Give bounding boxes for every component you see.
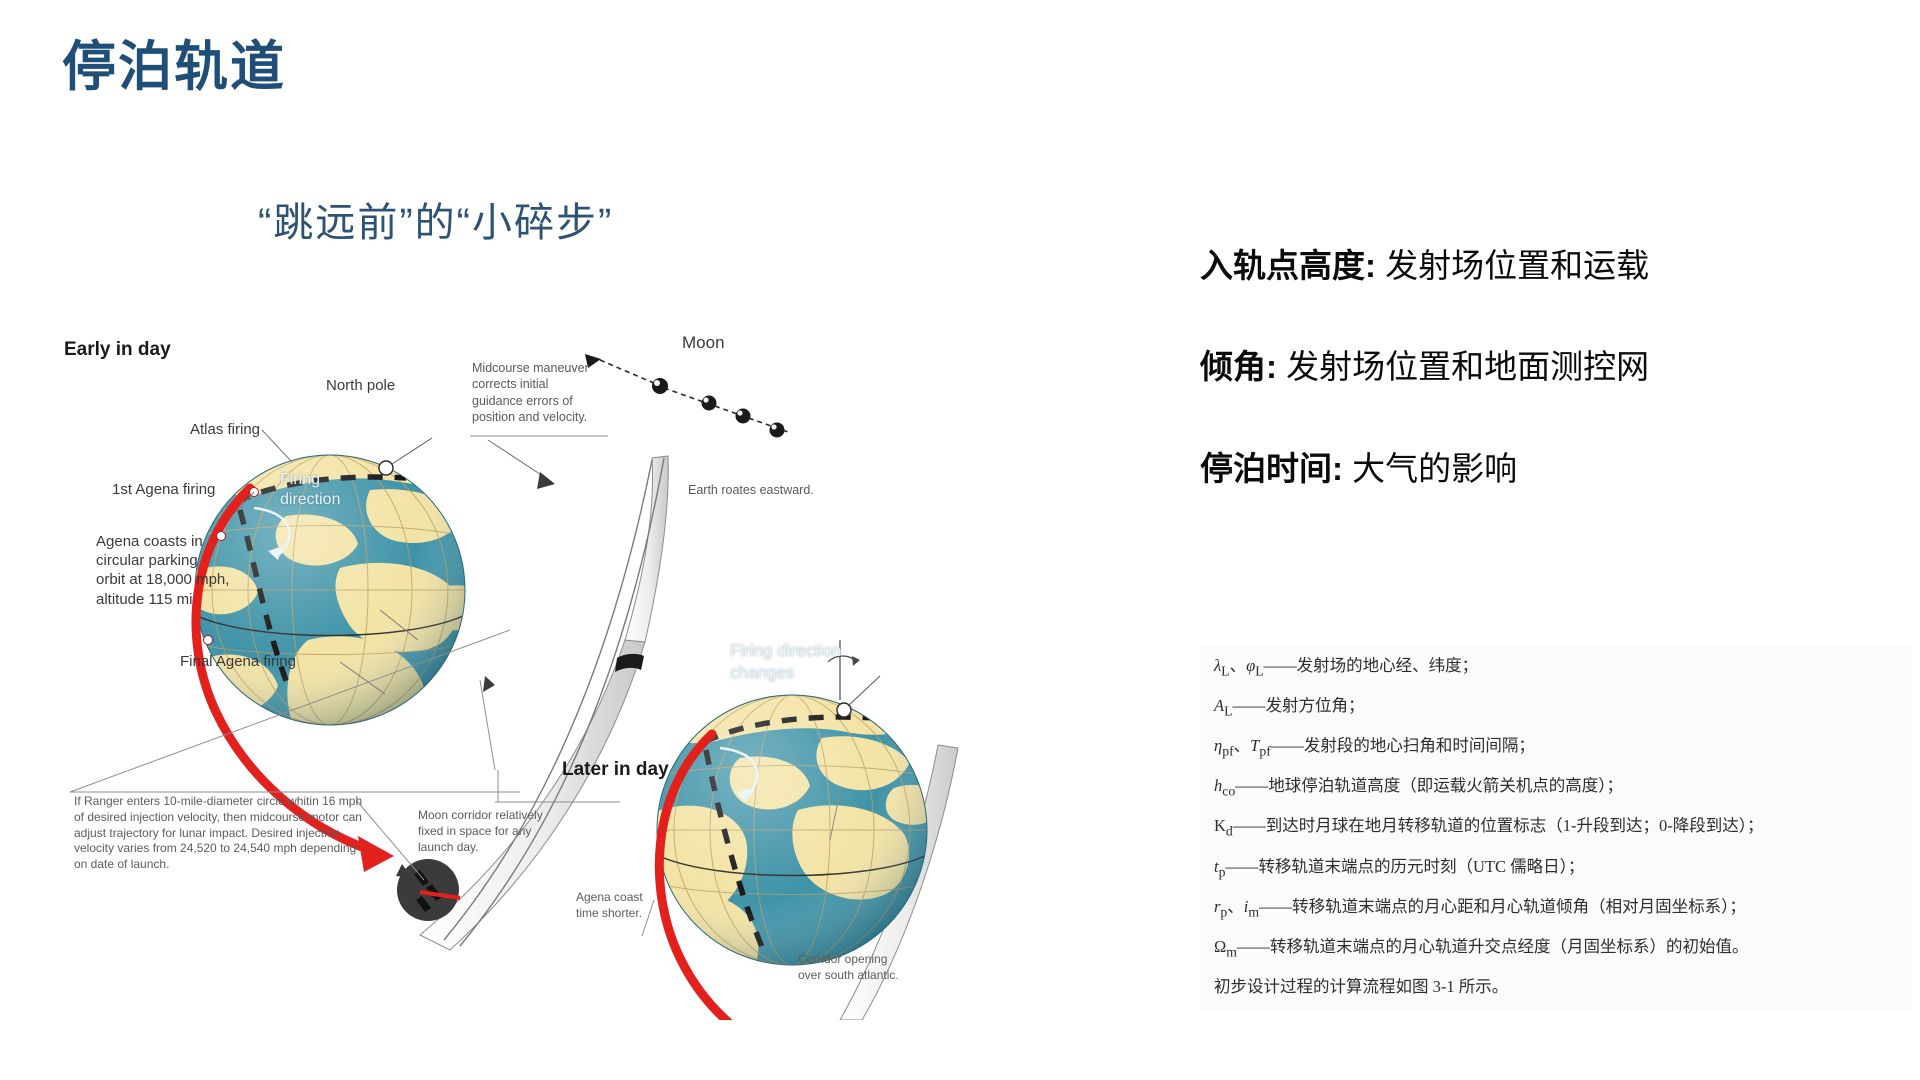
moon-icon — [652, 378, 668, 394]
nomenclature-text-6: ——转移轨道末端点的月心距和月心轨道倾角（相对月固坐标系）； — [1259, 897, 1746, 916]
label-firing-direction: Firing direction — [280, 470, 340, 511]
nomenclature-line-3: hco——地球停泊轨道高度（即运载火箭关机点的高度）； — [1214, 777, 1898, 799]
nomenclature-sub-1: L — [1224, 703, 1232, 718]
nomenclature-symbol2-2: T — [1250, 736, 1259, 755]
bullet-value-2: 大气的影响 — [1343, 450, 1517, 487]
bullet-key-1: 倾角: — [1200, 348, 1277, 385]
bullet-list: 入轨点高度: 发射场位置和运载 倾角: 发射场位置和地面测控网 停泊时间: 大气… — [1200, 245, 1900, 549]
nomenclature-line-1: AL——发射方位角； — [1214, 697, 1898, 719]
midcourse-callout — [470, 436, 608, 489]
nomenclature-sub2-2: pf — [1259, 744, 1270, 759]
figure-heading-later: Later in day — [562, 758, 669, 782]
nomenclature-footer: 初步设计过程的计算流程如图 3-1 所示。 — [1214, 978, 1898, 997]
nomenclature-text-7: ——转移轨道末端点的月心轨道升交点经度（月固坐标系）的初始值。 — [1237, 937, 1749, 956]
trajectory-infographic: Early in day Later in day North pole Atl… — [40, 340, 1160, 1020]
figure-heading-early: Early in day — [64, 338, 171, 362]
nomenclature-sub-7: m — [1226, 944, 1237, 959]
label-ranger-injection-note: If Ranger enters 10-mile-diameter circle… — [74, 794, 394, 873]
label-earth-rotates-eastward: Earth roates eastward. — [688, 482, 814, 498]
label-moon-corridor-note: Moon corridor relatively fixed in space … — [418, 808, 584, 855]
nomenclature-symbol-7: Ω — [1214, 937, 1226, 956]
nomenclature-line-0: λL、φL——发射场的地心经、纬度； — [1214, 657, 1898, 679]
nomenclature-sub-4: d — [1226, 824, 1233, 839]
bullet-value-1: 发射场位置和地面测控网 — [1277, 348, 1649, 385]
transfer-trajectory — [444, 458, 664, 946]
label-moon: Moon — [682, 332, 725, 354]
nomenclature-line-6: rp、im——转移轨道末端点的月心距和月心轨道倾角（相对月固坐标系）； — [1214, 898, 1898, 920]
page-title: 停泊轨道 — [62, 38, 286, 97]
nomenclature-sub-0: L — [1221, 663, 1229, 678]
nomenclature-text-5: ——转移轨道末端点的历元时刻（UTC 儒略日）； — [1225, 857, 1584, 876]
nomenclature-text-2: ——发射段的地心扫角和时间间隔； — [1271, 736, 1535, 755]
nomenclature-text-3: ——地球停泊轨道高度（即运载火箭关机点的高度）； — [1235, 776, 1623, 795]
moon-path — [585, 354, 788, 438]
label-corridor-opening: Corridor opening over south atlantic. — [798, 952, 899, 984]
nomenclature-block: λL、φL——发射场的地心经、纬度； AL——发射方位角； ηpf、Tpf——发… — [1200, 645, 1912, 1011]
nomenclature-symbol2-0: φ — [1246, 656, 1255, 675]
nomenclature-symbol-4: K — [1214, 816, 1226, 835]
nomenclature-symbol-1: A — [1214, 696, 1224, 715]
bullet-key-2: 停泊时间: — [1200, 450, 1343, 487]
label-midcourse-maneuver: Midcourse maneuver corrects initial guid… — [472, 360, 612, 425]
bullet-item-0: 入轨点高度: 发射场位置和运载 — [1200, 245, 1900, 286]
bullet-key-0: 入轨点高度: — [1200, 247, 1376, 284]
page-subtitle: “跳远前”的“小碎步” — [258, 190, 613, 248]
label-north-pole: North pole — [326, 376, 395, 395]
moon-corridor-cone — [420, 456, 668, 950]
bullet-item-1: 倾角: 发射场位置和地面测控网 — [1200, 346, 1900, 387]
nomenclature-line-7: Ωm——转移轨道末端点的月心轨道升交点经度（月固坐标系）的初始值。 — [1214, 938, 1898, 960]
label-agena-coast-shorter: Agena coast time shorter. — [576, 890, 643, 922]
nomenclature-sub-3: co — [1222, 784, 1235, 799]
north-pole-marker-a — [379, 461, 393, 475]
nomenclature-text-0: ——发射场的地心经、纬度； — [1264, 656, 1479, 675]
label-agena-coasts: Agena coasts in circular parking orbit a… — [96, 532, 229, 609]
label-atlas-firing: Atlas firing — [190, 420, 260, 439]
nomenclature-sub2-6: m — [1248, 904, 1259, 919]
bullet-item-2: 停泊时间: 大气的影响 — [1200, 448, 1900, 489]
globe-later-in-day — [641, 640, 946, 1020]
nomenclature-line-5: tp——转移轨道末端点的历元时刻（UTC 儒略日）； — [1214, 858, 1898, 880]
nomenclature-sub-2: pf — [1222, 744, 1233, 759]
nomenclature-line-4: Kd——到达时月球在地月转移轨道的位置标志（1-升段到达；0-降段到达）； — [1214, 817, 1898, 839]
slide-root: 停泊轨道 “跳远前”的“小碎步” 入轨点高度: 发射场位置和运载 倾角: 发射场… — [0, 0, 1920, 1080]
label-firing-direction-changes: Firing direction changes — [730, 640, 842, 684]
label-1st-agena-firing: 1st Agena firing — [112, 480, 215, 499]
nomenclature-symbol-2: η — [1214, 736, 1222, 755]
nomenclature-sub2-0: L — [1255, 663, 1263, 678]
nomenclature-symbol-3: h — [1214, 776, 1222, 795]
nomenclature-line-2: ηpf、Tpf——发射段的地心扫角和时间间隔； — [1214, 737, 1898, 759]
nomenclature-text-1: ——发射方位角； — [1233, 696, 1365, 715]
bullet-value-0: 发射场位置和运载 — [1376, 247, 1649, 284]
label-final-agena-firing: Final Agena firing — [180, 652, 296, 671]
nomenclature-text-4: ——到达时月球在地月转移轨道的位置标志（1-升段到达；0-降段到达）； — [1233, 816, 1764, 835]
